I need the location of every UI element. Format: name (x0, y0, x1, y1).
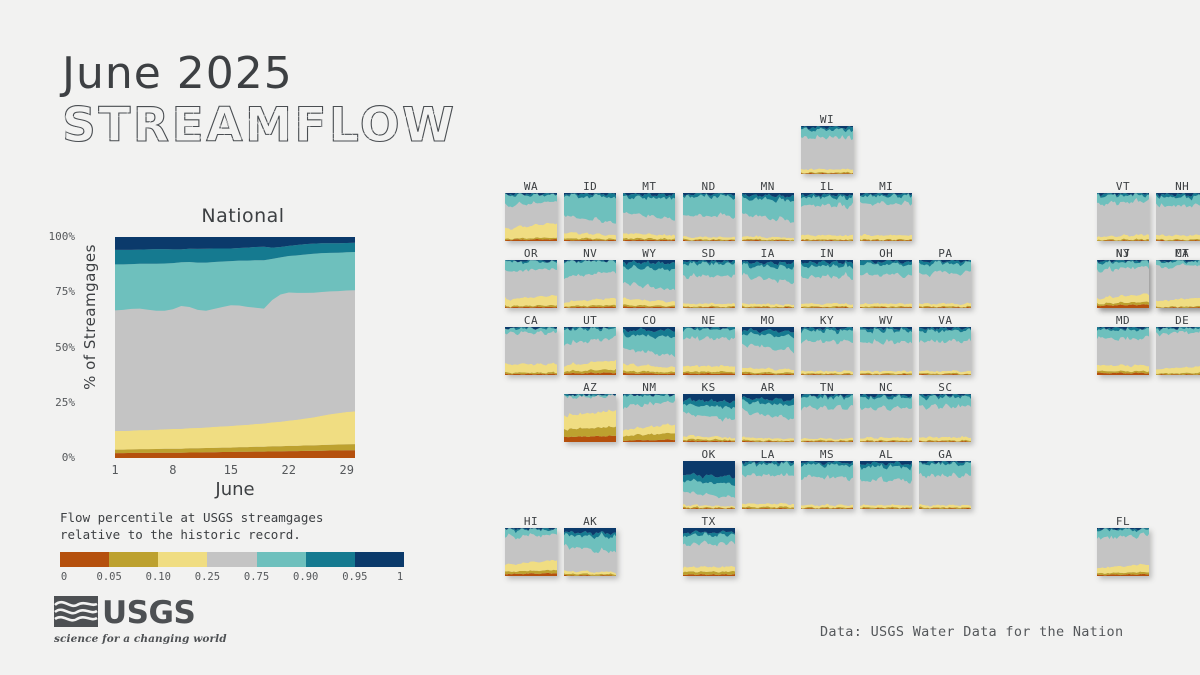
state-tile-plot (564, 528, 616, 576)
state-tile-label: NC (860, 381, 912, 394)
state-tile-ar[interactable]: AR (742, 381, 794, 442)
state-tile-tx[interactable]: TX (683, 515, 735, 576)
state-tile-plot (505, 528, 557, 576)
state-tile-mi[interactable]: MI (860, 180, 912, 241)
state-tile-label: GA (919, 448, 971, 461)
state-tile-il[interactable]: IL (801, 180, 853, 241)
state-tile-de[interactable]: DE (1156, 314, 1200, 375)
state-tile-wv[interactable]: WV (860, 314, 912, 375)
state-tile-label: WY (623, 247, 675, 260)
poster-canvas: June 2025 STREAMFLOW National % of Strea… (0, 0, 1200, 675)
state-tile-label: OR (505, 247, 557, 260)
state-tile-plot (801, 461, 853, 509)
state-tile-label: TN (801, 381, 853, 394)
state-tile-sd[interactable]: SD (683, 247, 735, 308)
state-tile-plot (801, 327, 853, 375)
state-tile-label: OH (860, 247, 912, 260)
state-tile-or[interactable]: OR (505, 247, 557, 308)
state-tile-label: DE (1156, 314, 1200, 327)
state-tile-label: CT (1156, 247, 1200, 260)
state-tile-label: AZ (564, 381, 616, 394)
state-tile-label: UT (564, 314, 616, 327)
state-tile-label: NH (1156, 180, 1200, 193)
state-tile-ks[interactable]: KS (683, 381, 735, 442)
state-tile-label: IN (801, 247, 853, 260)
state-tile-va[interactable]: VA (919, 314, 971, 375)
state-tile-plot (860, 461, 912, 509)
state-tile-ne[interactable]: NE (683, 314, 735, 375)
state-tile-nc[interactable]: NC (860, 381, 912, 442)
state-tile-plot (564, 260, 616, 308)
state-tile-label: ID (564, 180, 616, 193)
state-tile-label: MS (801, 448, 853, 461)
state-tile-label: MN (742, 180, 794, 193)
state-tile-label: MO (742, 314, 794, 327)
state-tile-label: HI (505, 515, 557, 528)
state-tile-label: WA (505, 180, 557, 193)
state-tile-plot (1097, 327, 1149, 375)
state-tile-ia[interactable]: IA (742, 247, 794, 308)
state-tile-wa[interactable]: WA (505, 180, 557, 241)
state-tile-plot (919, 260, 971, 308)
state-tile-ak[interactable]: AK (564, 515, 616, 576)
state-tile-plot (683, 260, 735, 308)
state-tile-label: NJ (1097, 247, 1149, 260)
state-tile-plot (860, 394, 912, 442)
state-tile-ms[interactable]: MS (801, 448, 853, 509)
state-tile-nm[interactable]: NM (623, 381, 675, 442)
state-tile-ok[interactable]: OK (683, 448, 735, 509)
state-tile-in[interactable]: IN (801, 247, 853, 308)
state-tile-plot (860, 327, 912, 375)
state-tile-plot (860, 193, 912, 241)
state-tile-plot (1156, 260, 1200, 308)
state-tile-al[interactable]: AL (860, 448, 912, 509)
state-tile-az[interactable]: AZ (564, 381, 616, 442)
state-tile-plot (683, 394, 735, 442)
state-tile-label: FL (1097, 515, 1149, 528)
state-tile-label: CA (505, 314, 557, 327)
state-tile-ca[interactable]: CA (505, 314, 557, 375)
state-tile-hi[interactable]: HI (505, 515, 557, 576)
state-tile-label: VT (1097, 180, 1149, 193)
state-tile-ga[interactable]: GA (919, 448, 971, 509)
state-tile-plot (919, 461, 971, 509)
state-tile-label: WV (860, 314, 912, 327)
state-tile-tn[interactable]: TN (801, 381, 853, 442)
state-tile-plot (1156, 327, 1200, 375)
state-tile-mt[interactable]: MT (623, 180, 675, 241)
state-tile-label: CO (623, 314, 675, 327)
state-tile-mo[interactable]: MO (742, 314, 794, 375)
state-tile-plot (1097, 193, 1149, 241)
state-tile-plot (742, 193, 794, 241)
state-tile-plot (564, 193, 616, 241)
state-tile-co[interactable]: CO (623, 314, 675, 375)
state-tile-label: ND (683, 180, 735, 193)
state-tile-label: AR (742, 381, 794, 394)
state-tile-plot (505, 260, 557, 308)
state-tile-plot (801, 126, 853, 174)
state-tile-label: MT (623, 180, 675, 193)
state-tile-label: WI (801, 113, 853, 126)
state-tile-nh[interactable]: NH (1156, 180, 1200, 241)
state-tile-plot (683, 327, 735, 375)
state-tile-wi[interactable]: WI (801, 113, 853, 174)
state-tile-label: KY (801, 314, 853, 327)
state-tile-label: AK (564, 515, 616, 528)
state-tile-label: TX (683, 515, 735, 528)
state-tile-id[interactable]: ID (564, 180, 616, 241)
state-tile-pa[interactable]: PA (919, 247, 971, 308)
state-tile-oh[interactable]: OH (860, 247, 912, 308)
state-tile-plot (801, 394, 853, 442)
state-tile-grid: WAIDMTNDMNILMIWIVTNHMENYMAORNVWYSDIAINOH… (0, 0, 1200, 675)
state-tile-plot (742, 394, 794, 442)
state-tile-vt[interactable]: VT (1097, 180, 1149, 241)
state-tile-plot (1097, 528, 1149, 576)
state-tile-label: AL (860, 448, 912, 461)
state-tile-plot (623, 327, 675, 375)
state-tile-plot (860, 260, 912, 308)
state-tile-fl[interactable]: FL (1097, 515, 1149, 576)
state-tile-label: LA (742, 448, 794, 461)
state-tile-plot (801, 260, 853, 308)
state-tile-label: NV (564, 247, 616, 260)
state-tile-label: IA (742, 247, 794, 260)
state-tile-label: VA (919, 314, 971, 327)
state-tile-label: OK (683, 448, 735, 461)
state-tile-mn[interactable]: MN (742, 180, 794, 241)
state-tile-plot (683, 461, 735, 509)
state-tile-nj[interactable]: NJ (1097, 247, 1149, 308)
state-tile-plot (505, 327, 557, 375)
state-tile-ky[interactable]: KY (801, 314, 853, 375)
state-tile-plot (683, 193, 735, 241)
state-tile-label: NE (683, 314, 735, 327)
state-tile-label: NM (623, 381, 675, 394)
state-tile-label: SD (683, 247, 735, 260)
state-tile-plot (1156, 193, 1200, 241)
state-tile-plot (623, 260, 675, 308)
state-tile-plot (683, 528, 735, 576)
state-tile-sc[interactable]: SC (919, 381, 971, 442)
state-tile-label: PA (919, 247, 971, 260)
state-tile-label: KS (683, 381, 735, 394)
state-tile-plot (505, 193, 557, 241)
state-tile-plot (564, 327, 616, 375)
state-tile-label: IL (801, 180, 853, 193)
state-tile-plot (742, 461, 794, 509)
state-tile-plot (742, 260, 794, 308)
state-tile-plot (623, 193, 675, 241)
state-tile-md[interactable]: MD (1097, 314, 1149, 375)
state-tile-plot (742, 327, 794, 375)
state-tile-wy[interactable]: WY (623, 247, 675, 308)
state-tile-plot (623, 394, 675, 442)
state-tile-plot (564, 394, 616, 442)
state-tile-plot (919, 327, 971, 375)
state-tile-nv[interactable]: NV (564, 247, 616, 308)
state-tile-label: MI (860, 180, 912, 193)
state-tile-la[interactable]: LA (742, 448, 794, 509)
state-tile-ut[interactable]: UT (564, 314, 616, 375)
state-tile-plot (919, 394, 971, 442)
state-tile-label: SC (919, 381, 971, 394)
state-tile-label: MD (1097, 314, 1149, 327)
state-tile-nd[interactable]: ND (683, 180, 735, 241)
state-tile-plot (1097, 260, 1149, 308)
state-tile-ct[interactable]: CT (1156, 247, 1200, 308)
state-tile-plot (801, 193, 853, 241)
